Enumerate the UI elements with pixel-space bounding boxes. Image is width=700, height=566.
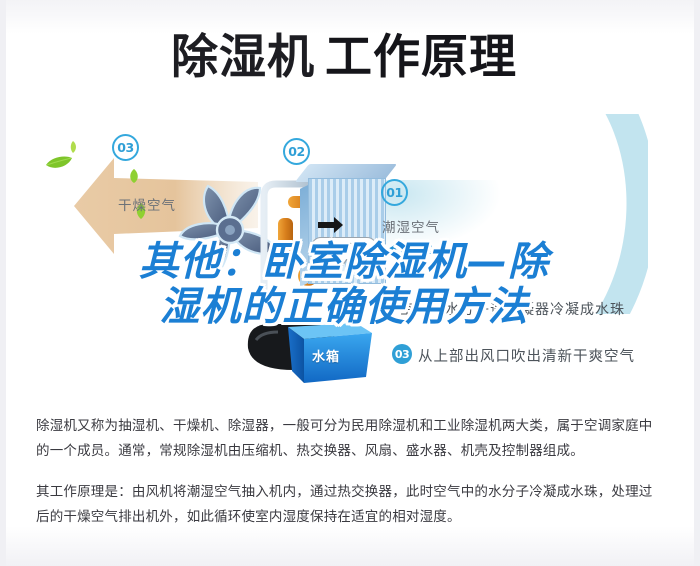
leaf-icon-3 xyxy=(127,168,141,184)
moist-air-label: 潮湿空气 xyxy=(382,216,440,236)
water-tank-label: 水箱 xyxy=(312,346,340,365)
page-root: 除湿机 工作原理 xyxy=(0,0,700,566)
badge-01-moist-air: 01 xyxy=(381,179,408,206)
heat-exchanger-label: 热交换器 xyxy=(311,237,377,260)
badge-03-dry-air: 03 xyxy=(112,134,139,161)
badge-02-heat-exchanger: 02 xyxy=(283,138,310,165)
dry-air-label: 干燥空气 xyxy=(118,194,176,214)
step-02-text: 空气中水分子遇冷凝器冷凝成水珠 xyxy=(400,299,625,319)
body-paragraph-1: 除湿机又称为抽湿机、干燥机、除湿器，一般可分为民用除湿机和工业除湿机两大类，属于… xyxy=(36,414,666,464)
dehumidifier-diagram: 水箱 03 干燥空气 02 热交换器 01 潮湿空气 空气中水分子遇冷凝器冷凝成… xyxy=(0,96,688,408)
page-title: 除湿机 工作原理 xyxy=(0,24,688,90)
badge-03-outlet: 03 xyxy=(392,344,412,364)
leaf-icon-2 xyxy=(67,140,79,154)
body-paragraph-2: 其工作原理是：由风机将潮湿空气抽入机内，通过热交换器，此时空气中的水分子冷凝成水… xyxy=(36,480,666,530)
leaf-icon-1 xyxy=(44,154,74,172)
page-title-part1: 除湿机 xyxy=(171,34,315,81)
body-copy: 除湿机又称为抽湿机、干燥机、除湿器，一般可分为民用除湿机和工业除湿机两大类，属于… xyxy=(36,414,666,530)
step-03-text: 从上部出风口吹出清新干爽空气 xyxy=(418,345,635,366)
air-inflow-arrow-icon xyxy=(386,242,432,258)
page-title-part2: 工作原理 xyxy=(325,34,517,81)
